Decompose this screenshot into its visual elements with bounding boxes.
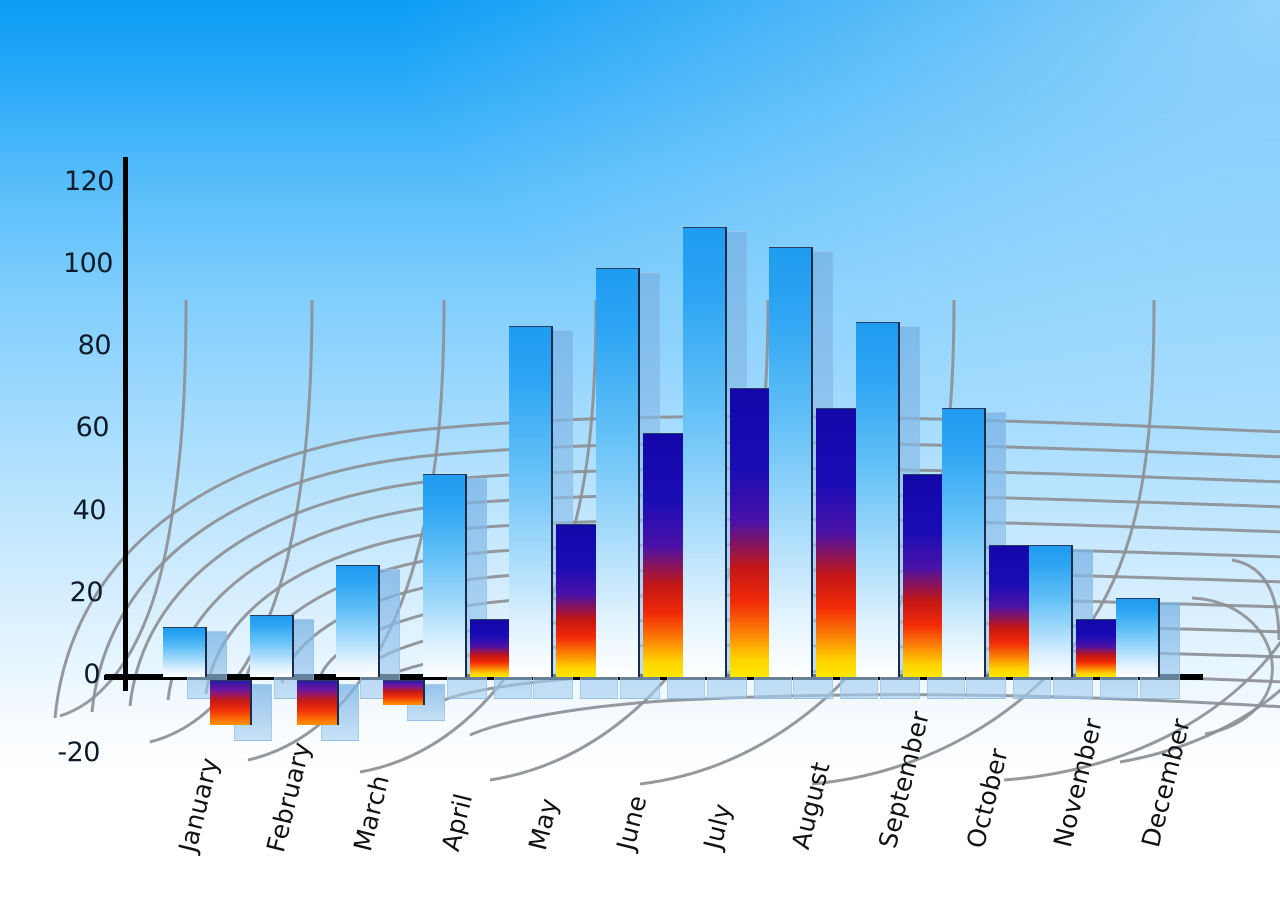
x-axis-label-november: November — [1048, 715, 1108, 850]
x-axis-label-july: July — [698, 801, 737, 852]
x-axis-label-january: January — [173, 755, 224, 855]
x-axis-label-march: March — [348, 772, 395, 854]
x-axis-label-april: April — [436, 790, 478, 853]
x-axis-label-february: February — [261, 738, 316, 854]
x-axis-label-september: September — [873, 708, 935, 851]
chart-canvas: 120 100 80 60 40 20 0 -20 JanuaryFebruar… — [0, 0, 1280, 905]
plot-area: 120 100 80 60 40 20 0 -20 JanuaryFebruar… — [0, 0, 1280, 905]
x-axis-label-august: August — [786, 758, 836, 851]
x-axis-label-june: June — [611, 792, 653, 853]
x-axis-labels: JanuaryFebruaryMarchAprilMayJuneJulyAugu… — [0, 0, 1280, 905]
x-axis-label-october: October — [961, 745, 1014, 850]
x-axis-label-december: December — [1136, 715, 1196, 849]
x-axis-label-may: May — [523, 795, 564, 853]
